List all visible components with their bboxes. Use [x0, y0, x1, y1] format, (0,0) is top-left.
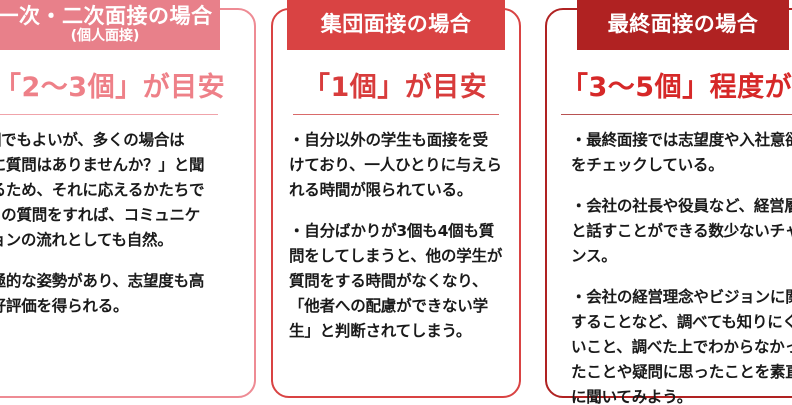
card-header-first-second-interview: 一次・二次面接の場合 (個人面接) — [0, 0, 220, 50]
card-final-interview: 最終面接の場合 「3〜5個」程度が目安 ・最終面接では志望度や入社意欲をチェック… — [545, 8, 792, 398]
card-paragraph: ・会社の社長や役員など、経営層と話すことができる数少ないチャンス。 — [571, 194, 792, 269]
card-header-title: 最終面接の場合 — [608, 13, 759, 37]
card-header-final-interview: 最終面接の場合 — [577, 0, 789, 50]
card-paragraph: ・自分ばかりが3個も4個も質問をしてしまうと、他の学生が質問をする時間がなくなり… — [289, 219, 503, 345]
card-paragraph: ・会社の経営理念やビジョンに関することなど、調べても知りにくいこと、調べた上でわ… — [571, 285, 792, 405]
card-body-first-second-interview: ・1個でもよいが、多くの場合は「他に質問はありませんか？」と聞かれるため、それに… — [0, 128, 212, 319]
comparison-diagram: 一次・二次面接の場合 (個人面接) 「2〜3個」が目安 ・1個でもよいが、多くの… — [0, 0, 792, 405]
card-paragraph: ・積極的な姿勢があり、志望度も高いと好評価を得られる。 — [0, 269, 212, 319]
card-body-final-interview: ・最終面接では志望度や入社意欲をチェックしている。 ・会社の社長や役員など、経営… — [571, 128, 792, 405]
card-header-group-interview: 集団面接の場合 — [287, 0, 505, 50]
card-divider — [561, 114, 792, 115]
card-guideline-count: 「2〜3個」が目安 — [0, 62, 225, 106]
card-divider — [293, 114, 499, 115]
card-header-title: 一次・二次面接の場合 — [0, 5, 213, 29]
card-guideline-count: 「1個」が目安 — [303, 62, 487, 106]
card-first-second-interview: 一次・二次面接の場合 (個人面接) 「2〜3個」が目安 ・1個でもよいが、多くの… — [0, 8, 256, 398]
card-guideline-count: 「3〜5個」程度が目安 — [561, 62, 792, 106]
card-paragraph: ・1個でもよいが、多くの場合は「他に質問はありませんか？」と聞かれるため、それに… — [0, 128, 212, 254]
card-header-subtitle: (個人面接) — [71, 29, 140, 45]
card-divider — [0, 114, 218, 115]
card-paragraph: ・自分以外の学生も面接を受けており、一人ひとりに与えられる時間が限られている。 — [289, 128, 503, 203]
card-body-group-interview: ・自分以外の学生も面接を受けており、一人ひとりに与えられる時間が限られている。 … — [289, 128, 503, 344]
card-group-interview: 集団面接の場合 「1個」が目安 ・自分以外の学生も面接を受けており、一人ひとりに… — [271, 8, 521, 398]
card-paragraph: ・最終面接では志望度や入社意欲をチェックしている。 — [571, 128, 792, 178]
card-header-title: 集団面接の場合 — [321, 13, 472, 37]
